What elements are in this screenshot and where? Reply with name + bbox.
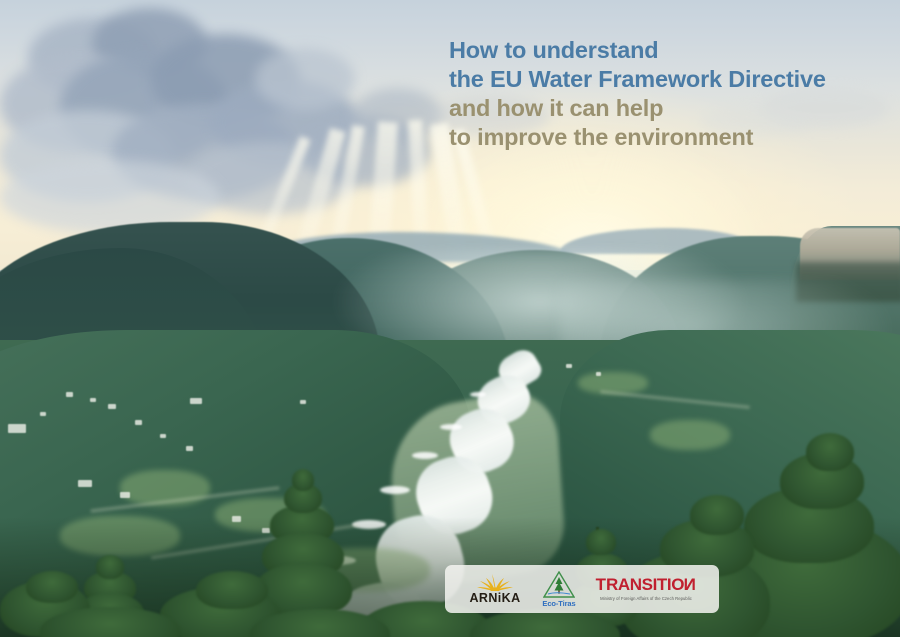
logo-transition-subtitle: Ministry of Foreign Affairs of the Czech… bbox=[600, 596, 692, 602]
logo-arnika[interactable]: ARNiKA bbox=[459, 573, 531, 605]
title-line-4: to improve the environment bbox=[449, 123, 879, 152]
cover-title: How to understand the EU Water Framework… bbox=[449, 36, 879, 152]
logo-bar: ARNiKA Eco-Tiras TRANSITION Ministry of … bbox=[445, 565, 719, 613]
sunburst-flower-icon bbox=[472, 573, 518, 591]
publication-cover: How to understand the EU Water Framework… bbox=[0, 0, 900, 637]
logo-transition-wordmark: TRANSITION bbox=[596, 576, 696, 594]
logo-transition[interactable]: TRANSITION Ministry of Foreign Affairs o… bbox=[587, 576, 705, 602]
triangle-tree-icon bbox=[543, 571, 575, 598]
logo-eco-tiras[interactable]: Eco-Tiras bbox=[532, 571, 586, 608]
title-line-1: How to understand bbox=[449, 36, 879, 65]
logo-eco-tiras-wordmark: Eco-Tiras bbox=[542, 599, 575, 608]
logo-arnika-wordmark: ARNiKA bbox=[469, 592, 520, 605]
title-line-2: the EU Water Framework Directive bbox=[449, 65, 879, 94]
title-line-3: and how it can help bbox=[449, 94, 879, 123]
